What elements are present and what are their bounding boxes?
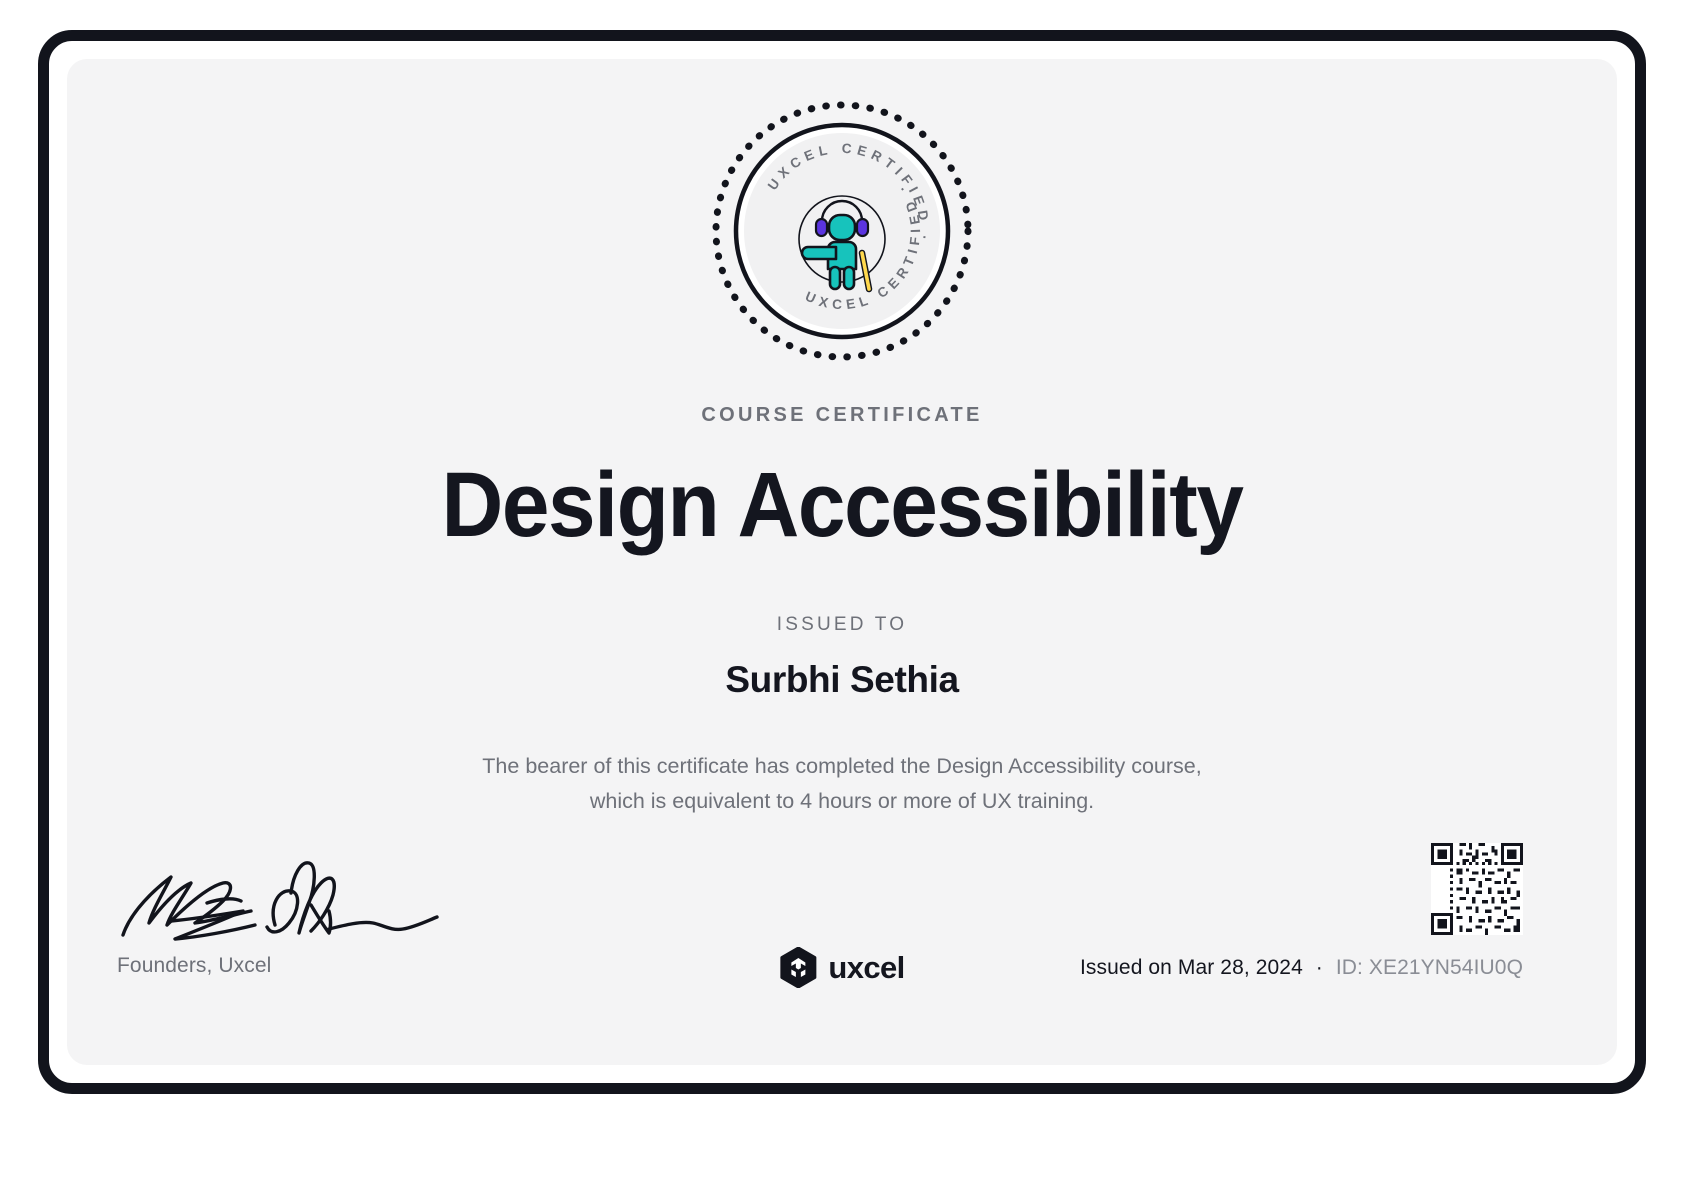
uxcel-brand-logo: uxcel [779, 947, 904, 988]
uxcel-hexagon-icon [779, 947, 817, 988]
description-line-1: The bearer of this certificate has compl… [482, 754, 1201, 778]
founder-signature-left [123, 877, 255, 939]
issued-on-date: Issued on Mar 28, 2024 [1080, 956, 1303, 979]
page-title: Design Accessibility [121, 459, 1563, 553]
certificate-id: ID: XE21YN54IU0Q [1336, 956, 1523, 979]
recipient-name: Surbhi Sethia [67, 659, 1617, 701]
description-line-2: which is equivalent to 4 hours or more o… [590, 789, 1094, 813]
qr-code[interactable] [1431, 843, 1523, 935]
uxcel-wordmark: uxcel [828, 950, 904, 986]
founders-caption: Founders, Uxcel [117, 954, 271, 978]
issue-metadata: Issued on Mar 28, 2024 · ID: XE21YN54IU0… [1080, 956, 1523, 980]
certificate-description: The bearer of this certificate has compl… [432, 749, 1252, 819]
uxcel-certified-badge: UXCEL CERTIFIED · UXCEL CERTIFIED · [708, 97, 976, 365]
course-certificate-kicker: COURSE CERTIFICATE [67, 404, 1617, 427]
certificate-frame: UXCEL CERTIFIED · UXCEL CERTIFIED · [38, 30, 1646, 1094]
founder-signatures [115, 849, 445, 944]
founder-signature-right [267, 863, 437, 933]
issued-to-label: ISSUED TO [67, 614, 1617, 636]
certificate-card: UXCEL CERTIFIED · UXCEL CERTIFIED · [67, 59, 1617, 1065]
metadata-separator: · [1309, 956, 1330, 979]
